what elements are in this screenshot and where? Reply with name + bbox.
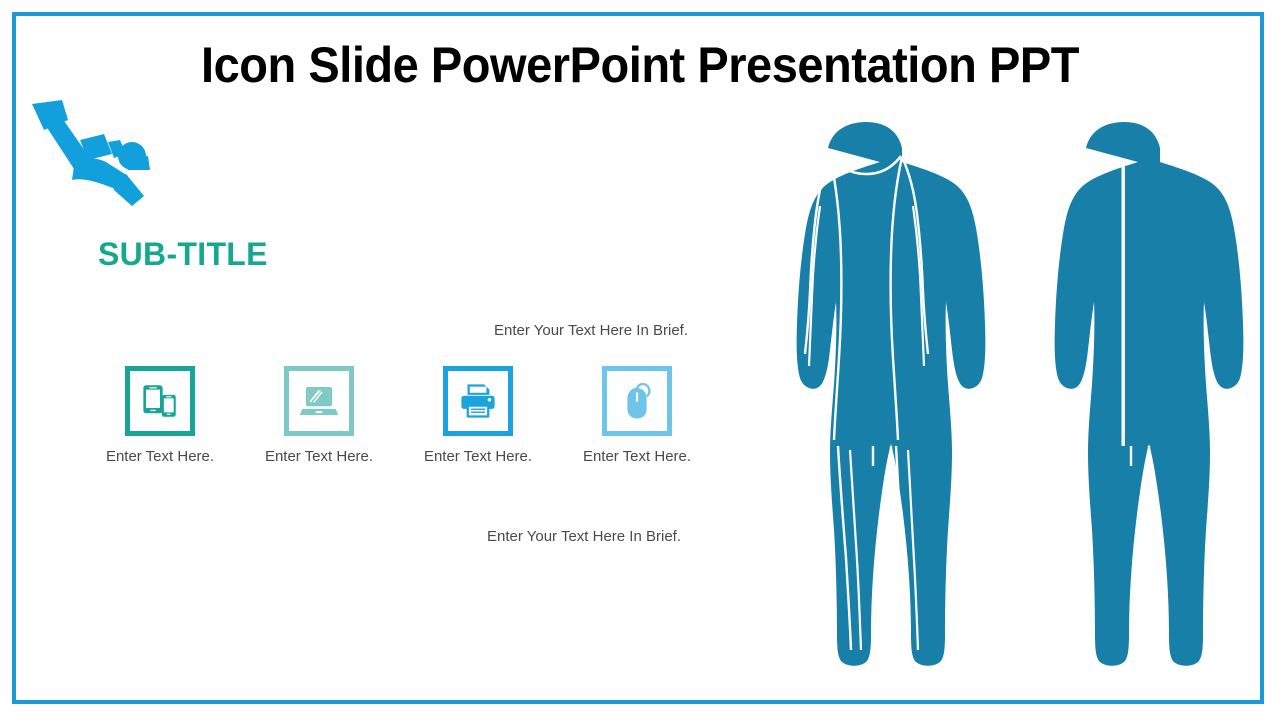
icon-item-4[interactable]: Enter Text Here.	[557, 366, 717, 465]
scuba-diver-icon	[28, 96, 158, 206]
brief-text-bottom: Enter Your Text Here In Brief.	[487, 528, 681, 545]
sub-title: SUB-TITLE	[98, 236, 268, 273]
icon-label-2: Enter Text Here.	[239, 448, 399, 465]
icon-box-1[interactable]	[125, 366, 195, 436]
wetsuit-front-view	[797, 122, 986, 666]
icon-box-2[interactable]	[284, 366, 354, 436]
icon-box-3[interactable]	[443, 366, 513, 436]
printer-icon	[457, 380, 499, 422]
icon-item-1[interactable]: Enter Text Here.	[80, 366, 240, 465]
icon-label-3: Enter Text Here.	[398, 448, 558, 465]
page-title: Icon Slide PowerPoint Presentation PPT	[38, 36, 1241, 94]
icon-box-4[interactable]	[602, 366, 672, 436]
icon-item-3[interactable]: Enter Text Here.	[398, 366, 558, 465]
tablet-phone-icon	[139, 380, 181, 422]
icon-label-4: Enter Text Here.	[557, 448, 717, 465]
wetsuit-pair-illustration	[700, 110, 1260, 680]
computer-mouse-icon	[616, 380, 658, 422]
brief-text-top: Enter Your Text Here In Brief.	[494, 322, 688, 339]
laptop-icon	[298, 380, 340, 422]
wetsuit-back-view	[1055, 122, 1244, 666]
presentation-slide: Icon Slide PowerPoint Presentation PPT	[0, 0, 1280, 720]
icon-item-2[interactable]: Enter Text Here.	[239, 366, 399, 465]
icon-row: Enter Text Here. Enter Text Here.	[80, 366, 720, 476]
icon-label-1: Enter Text Here.	[80, 448, 240, 465]
